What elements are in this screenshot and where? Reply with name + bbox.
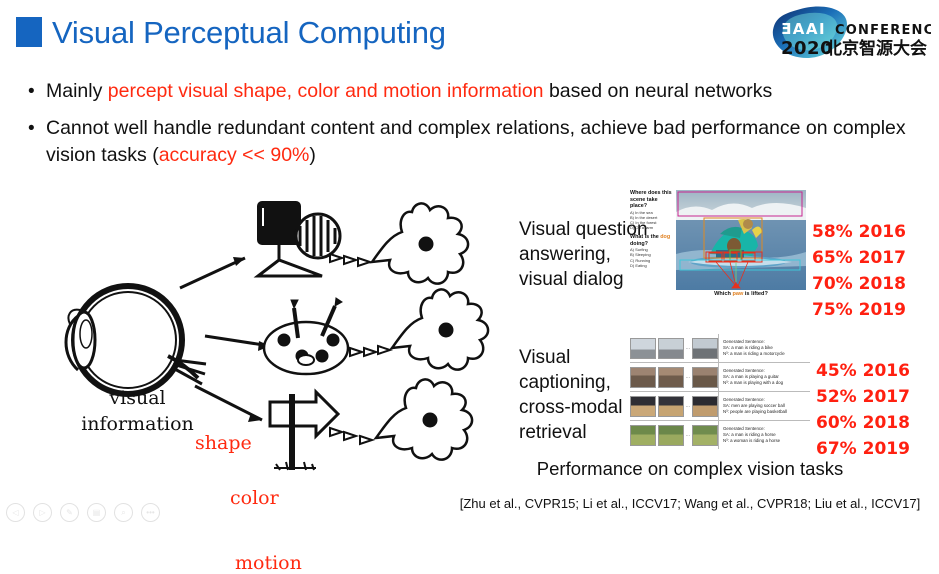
arrow-shape (180, 257, 245, 288)
page-title: Visual Perceptual Computing (52, 15, 446, 51)
stat-value: 67% (816, 439, 857, 459)
caption-n3: N³: people are playing basketball (723, 409, 810, 415)
task-label-line: answering, (519, 242, 648, 267)
ellipsis: … (685, 432, 690, 438)
vqa-accuracy-stats: 58% 2016 65% 2017 70% 2018 75% 2019 (812, 219, 906, 323)
neuron-icon (350, 289, 488, 369)
slide-thumbnails-button[interactable]: ▤ (87, 503, 106, 522)
bullet-marker: • (28, 115, 35, 142)
task-label-vqa: Visual question answering, visual dialog (519, 217, 648, 292)
bullet-text-highlight: accuracy << 90% (159, 144, 310, 166)
vqa-question-block: Where does this scene take place? A) In … (630, 190, 672, 268)
stat-year: 2017 (863, 387, 910, 407)
caption-text: Generated Sentence: SA: a man is riding … (718, 334, 810, 362)
task-label-line: captioning, (519, 370, 622, 395)
ellipsis: … (685, 374, 690, 380)
video-frame (692, 367, 718, 388)
visual-info-line2: information (50, 411, 225, 437)
stat-value: 45% (816, 361, 857, 381)
video-frame (692, 425, 718, 446)
stat-row: 52% 2017 (816, 384, 910, 410)
performance-caption: Performance on complex vision tasks (440, 458, 939, 480)
vqa-option: D) Eating (630, 263, 672, 268)
vqa-image-caption: Which paw is lifted? (676, 291, 806, 297)
caption-text: Generated Sentence: SA: a man is playing… (718, 363, 810, 391)
caption-n3: N³: a man is playing with a dog (723, 380, 810, 386)
video-frame-thumbnails: … (630, 338, 718, 359)
vqa-figure: Where does this scene take place? A) In … (630, 190, 806, 302)
task-label-line: cross-modal (519, 395, 622, 420)
video-frame (630, 338, 656, 359)
caption-n3: N³: a man is riding a motorcycle (723, 351, 810, 357)
title-accent-square (16, 17, 42, 47)
ellipsis: … (685, 345, 690, 351)
video-frame (658, 396, 684, 417)
vqa-q2-post: doing? (630, 241, 648, 247)
caption-n3: N³: a woman is riding a horse (723, 438, 810, 444)
task-label-line: visual dialog (519, 267, 648, 292)
vqa-caption-keyword: paw (732, 291, 743, 297)
neuron-icon (330, 203, 468, 283)
stat-row: 70% 2018 (812, 271, 906, 297)
visual-info-line1: visual (50, 385, 225, 411)
captioning-figure: … Generated Sentence: SA: a man is ridin… (630, 334, 810, 450)
more-options-button[interactable]: ••• (141, 503, 160, 522)
stat-row: 58% 2016 (812, 219, 906, 245)
vqa-question-1: Where does this scene take place? (630, 190, 672, 210)
stat-row: 60% 2018 (816, 410, 910, 436)
previous-slide-button[interactable]: ◁ (6, 503, 25, 522)
captioning-accuracy-stats: 45% 2016 52% 2017 60% 2018 67% 2019 (816, 358, 910, 462)
task-label-captioning: Visual captioning, cross-modal retrieval (519, 345, 622, 445)
stat-row: 75% 2019 (812, 297, 906, 323)
video-frame (658, 338, 684, 359)
stat-value: 65% (812, 248, 853, 268)
stat-year: 2019 (859, 300, 906, 320)
arrow-color (205, 336, 270, 351)
caption-row: … Generated Sentence: SA: a man is ridin… (630, 334, 810, 363)
vqa-q2-keyword: dog (660, 234, 670, 240)
citation-line: [Zhu et al., CVPR15; Li et al., ICCV17; … (440, 496, 939, 511)
video-frame (630, 396, 656, 417)
vqa-q2-pre: What is the (630, 234, 660, 240)
visual-information-label: visual information (50, 385, 225, 437)
stat-row: 65% 2017 (812, 245, 906, 271)
stat-year: 2018 (859, 274, 906, 294)
eye-icon (66, 286, 206, 394)
stat-year: 2016 (863, 361, 910, 381)
bullet-text-post: ) (309, 144, 316, 166)
stat-value: 70% (812, 274, 853, 294)
stat-year: 2016 (859, 222, 906, 242)
video-frame (692, 338, 718, 359)
caption-row: … Generated Sentence: SA: men are playin… (630, 392, 810, 421)
bullet-item: •Mainly percept visual shape, color and … (22, 78, 927, 105)
video-frame (692, 396, 718, 417)
monitor-shapes-icon (258, 202, 340, 276)
vqa-caption-pre: Which (714, 291, 732, 297)
caption-text: Generated Sentence: SA: a man is riding … (718, 421, 810, 449)
task-label-line: Visual question (519, 217, 648, 242)
vqa-surfing-image (676, 190, 806, 290)
arrow-label-motion: motion (235, 552, 302, 574)
vqa-caption-post: is lifted? (743, 291, 768, 297)
video-frame-thumbnails: … (630, 396, 718, 417)
presentation-toolbar[interactable]: ◁ ▷ ✎ ▤ ⌕ ••• (6, 503, 160, 522)
bullet-item: •Cannot well handle redundant content an… (22, 115, 927, 169)
video-frame (658, 367, 684, 388)
ellipsis: … (685, 403, 690, 409)
stat-year: 2019 (863, 439, 910, 459)
svg-text:CONFERENCE: CONFERENCE (835, 23, 931, 38)
video-frame-thumbnails: … (630, 367, 718, 388)
bullet-text-highlight: percept visual shape, color and motion i… (108, 80, 544, 102)
video-frame-thumbnails: … (630, 425, 718, 446)
video-frame (658, 425, 684, 446)
stat-value: 60% (816, 413, 857, 433)
caption-row: … Generated Sentence: SA: a man is playi… (630, 363, 810, 392)
video-frame (630, 367, 656, 388)
bullet-text-post: based on neural networks (544, 80, 773, 102)
zoom-search-button[interactable]: ⌕ (114, 503, 133, 522)
vqa-question-2: What is the dog doing? (630, 234, 672, 247)
stat-year: 2018 (863, 413, 910, 433)
vqa-q1-options: A) In the sea B) In the desert C) In the… (630, 210, 672, 230)
stat-value: 58% (812, 222, 853, 242)
stat-value: 75% (812, 300, 853, 320)
caption-row: … Generated Sentence: SA: a man is ridin… (630, 421, 810, 449)
stat-value: 52% (816, 387, 857, 407)
play-slide-button[interactable]: ▷ (33, 503, 52, 522)
task-label-line: Visual (519, 345, 622, 370)
arrow-signpost-icon (270, 392, 338, 470)
bullet-list: •Mainly percept visual shape, color and … (22, 78, 927, 179)
bullet-text-pre: Mainly (46, 80, 108, 102)
stat-row: 45% 2016 (816, 358, 910, 384)
video-frame (630, 425, 656, 446)
caption-text: Generated Sentence: SA: men are playing … (718, 392, 810, 420)
arrow-label-color: color (230, 487, 279, 509)
svg-text:ƎAAI: ƎAAI (781, 20, 826, 38)
bullet-marker: • (28, 78, 35, 105)
stat-year: 2017 (859, 248, 906, 268)
task-label-line: retrieval (519, 420, 622, 445)
neuron-icon (330, 379, 472, 459)
slide-canvas: Visual Perceptual Computing ƎAAI CONFERE… (0, 0, 939, 526)
svg-text:北京智源大会: 北京智源大会 (825, 38, 927, 59)
paint-palette-icon (264, 298, 348, 374)
baai-conference-logo: ƎAAI CONFERENCE 2020 北京智源大会 (763, 4, 931, 66)
vqa-q2-options: A) Surfing B) Sleeping C) Running D) Eat… (630, 247, 672, 267)
pen-tool-button[interactable]: ✎ (60, 503, 79, 522)
